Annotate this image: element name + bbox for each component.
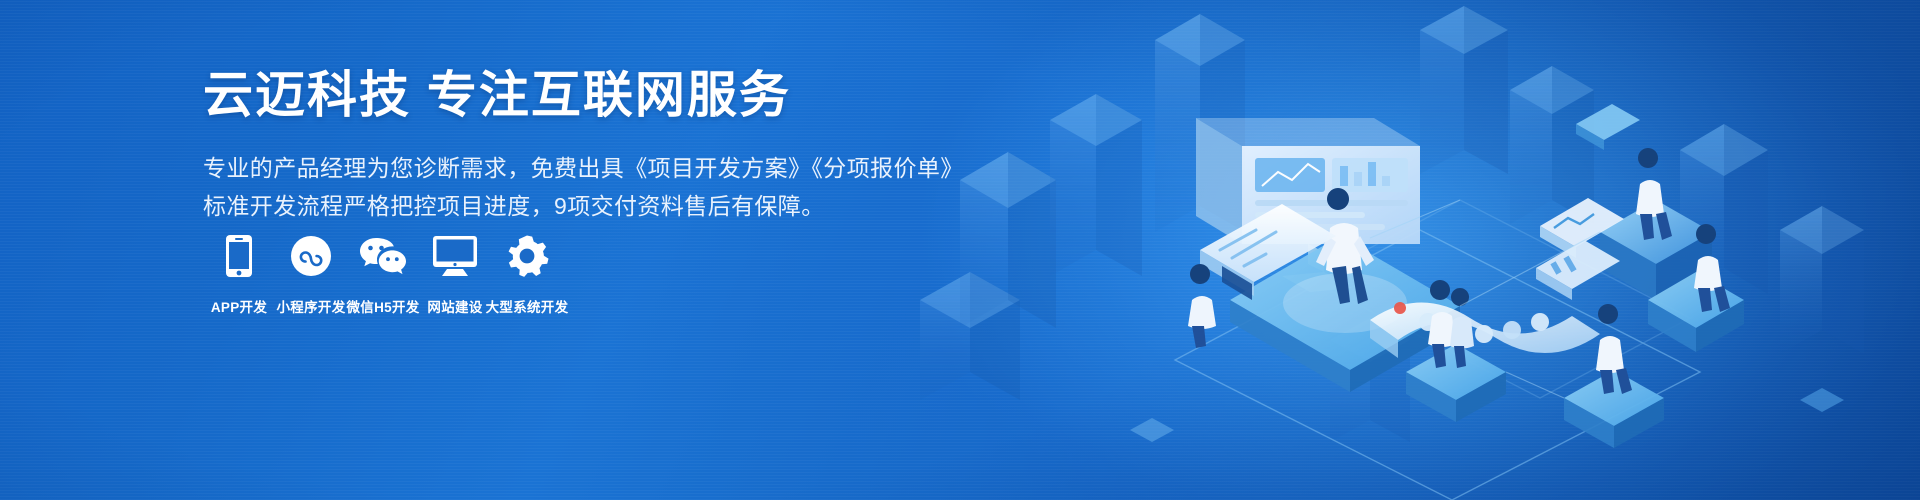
service-label: 网站建设 (427, 296, 482, 316)
hero-banner: 云迈科技 专注互联网服务 专业的产品经理为您诊断需求，免费出具《项目开发方案》《… (0, 0, 1920, 500)
service-item-wechat-h5[interactable]: 微信H5开发 (347, 232, 419, 316)
hero-copy: 云迈科技 专注互联网服务 专业的产品经理为您诊断需求，免费出具《项目开发方案》《… (203, 66, 923, 224)
page-title: 云迈科技 专注互联网服务 (203, 66, 923, 125)
gear-icon (505, 232, 549, 280)
service-label: 微信H5开发 (346, 296, 419, 316)
background-glow (922, 0, 1920, 500)
service-item-app[interactable]: APP开发 (203, 232, 275, 316)
subtitle-line-1: 专业的产品经理为您诊断需求，免费出具《项目开发方案》《分项报价单》 (203, 151, 923, 186)
subtitle-line-2: 标准开发流程严格把控项目进度，9项交付资料售后有保障。 (203, 189, 923, 224)
service-item-large-system[interactable]: 大型系统开发 (491, 232, 563, 316)
service-item-miniprogram[interactable]: 小程序开发 (275, 232, 347, 316)
service-label: APP开发 (211, 296, 267, 316)
service-item-website[interactable]: 网站建设 (419, 232, 491, 316)
mobile-phone-icon (225, 232, 253, 280)
hero-illustration (900, 0, 1920, 500)
monitor-icon (432, 232, 478, 280)
service-label: 小程序开发 (277, 296, 346, 316)
mini-program-icon (290, 232, 332, 280)
service-label: 大型系统开发 (486, 296, 569, 316)
wechat-icon (358, 232, 408, 280)
service-list: APP开发 小程序开发 微信 (203, 232, 563, 316)
